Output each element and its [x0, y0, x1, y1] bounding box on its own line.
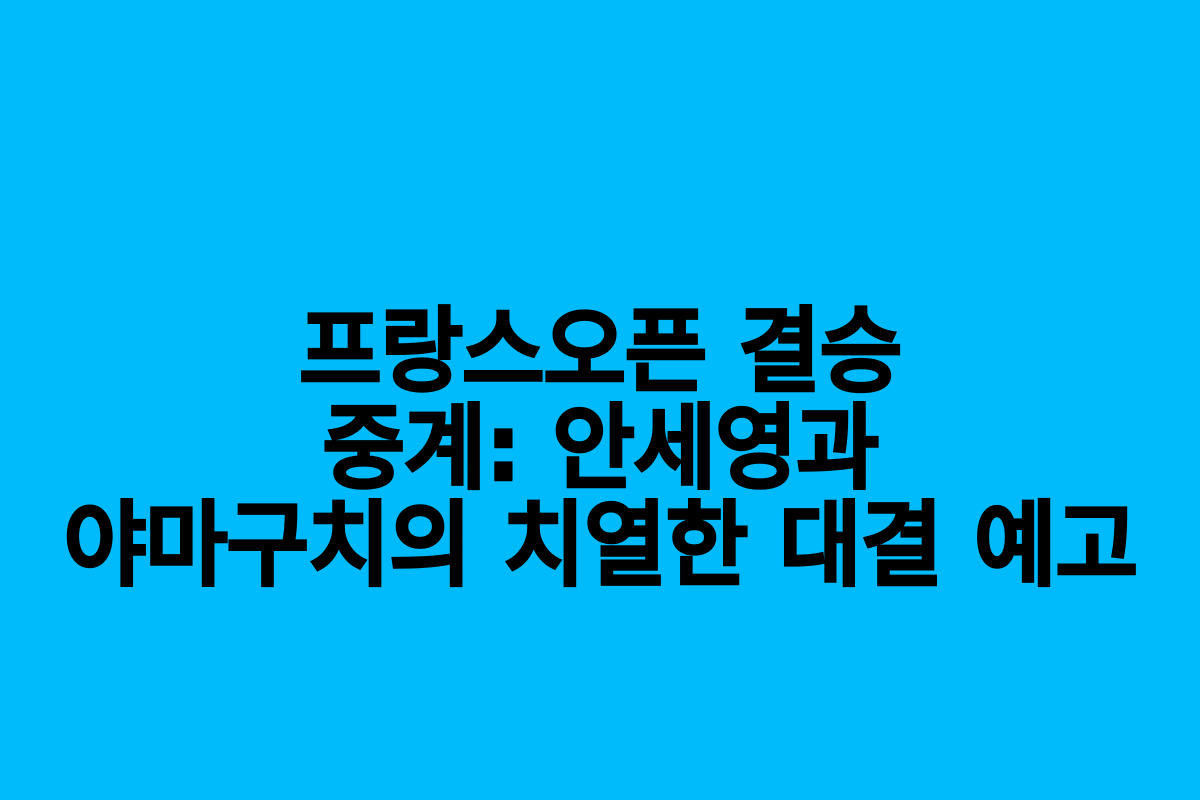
headline-line-2: 중계: 안세영과	[322, 400, 877, 497]
page-title: 프랑스오픈 결승 중계: 안세영과 야마구치의 치열한 대결 예고	[0, 206, 1200, 594]
headline-line-3: 야마구치의 치열한 대결 예고	[63, 497, 1136, 594]
poster-canvas: 프랑스오픈 결승 중계: 안세영과 야마구치의 치열한 대결 예고	[0, 0, 1200, 800]
headline-line-1: 프랑스오픈 결승	[299, 303, 901, 400]
